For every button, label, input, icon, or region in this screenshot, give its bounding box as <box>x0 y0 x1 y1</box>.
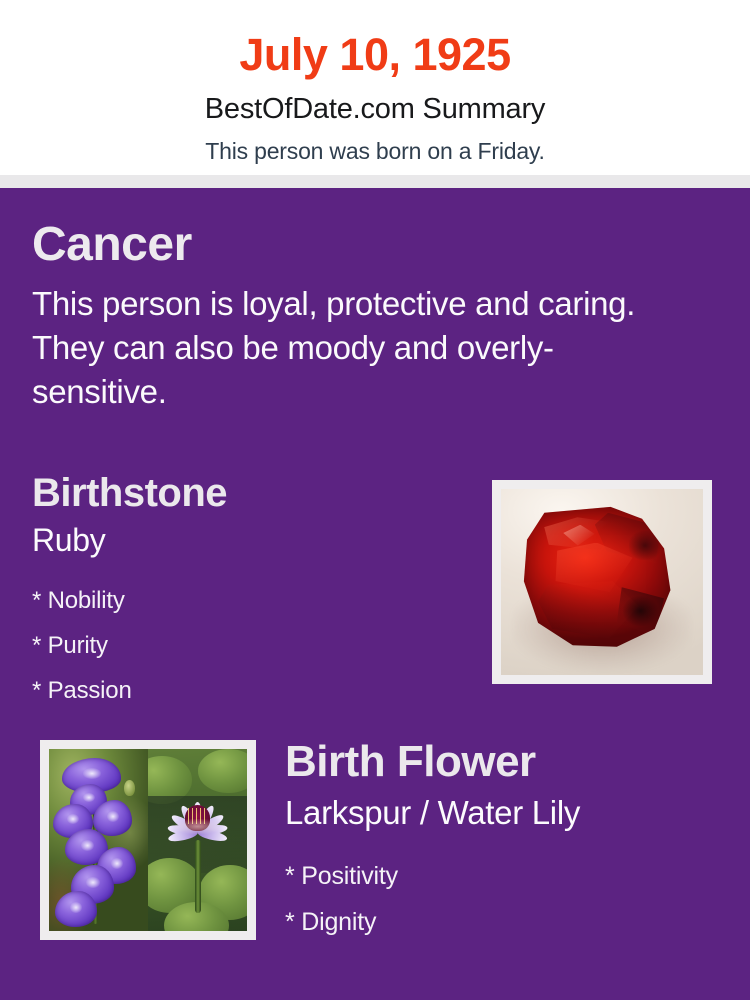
larkspur-bloom <box>55 891 97 927</box>
card-header: July 10, 1925 BestOfDate.com Summary Thi… <box>0 0 750 175</box>
list-item: * Dignity <box>285 889 735 935</box>
summary-card: July 10, 1925 BestOfDate.com Summary Thi… <box>0 0 750 1000</box>
header-divider <box>0 175 750 188</box>
birthstone-image-frame <box>492 480 712 684</box>
birth-flower-trait-list: * Positivity * Dignity <box>285 829 735 935</box>
larkspur-photo-half <box>49 749 148 931</box>
ruby-dark-inclusion <box>623 596 658 626</box>
water-lily-photo-half <box>148 749 247 931</box>
birth-flower-heading: Birth Flower <box>285 740 735 784</box>
water-lily-stem <box>195 840 201 913</box>
lily-highlight <box>175 819 221 833</box>
list-item: * Nobility <box>32 568 472 613</box>
zodiac-section: Cancer This person is loyal, protective … <box>32 221 652 415</box>
water-lily-bloom <box>162 785 233 851</box>
birthstone-trait-list: * Nobility * Purity * Passion <box>32 556 472 703</box>
birthstone-section: Birthstone Ruby * Nobility * Purity * Pa… <box>32 473 472 703</box>
born-weekday-text: This person was born on a Friday. <box>0 124 750 163</box>
birth-flower-name: Larkspur / Water Lily <box>285 784 735 829</box>
card-body: Cancer This person is loyal, protective … <box>0 188 750 1000</box>
list-item: * Purity <box>32 613 472 658</box>
birth-flower-image-frame <box>40 740 256 940</box>
larkspur-bud <box>124 780 135 796</box>
page-title-date: July 10, 1925 <box>0 0 750 77</box>
zodiac-description: This person is loyal, protective and car… <box>32 269 652 415</box>
flower-diptych <box>49 749 247 931</box>
list-item: * Passion <box>32 658 472 703</box>
site-name-subtitle: BestOfDate.com Summary <box>0 77 750 124</box>
ruby-gemstone-photo <box>501 489 703 675</box>
birthstone-heading: Birthstone <box>32 473 472 513</box>
list-item: * Positivity <box>285 843 735 889</box>
birthstone-name: Ruby <box>32 513 472 556</box>
birth-flower-section: Birth Flower Larkspur / Water Lily * Pos… <box>285 740 735 935</box>
larkspur-water-lily-photo <box>49 749 247 931</box>
zodiac-sign-heading: Cancer <box>32 221 652 269</box>
